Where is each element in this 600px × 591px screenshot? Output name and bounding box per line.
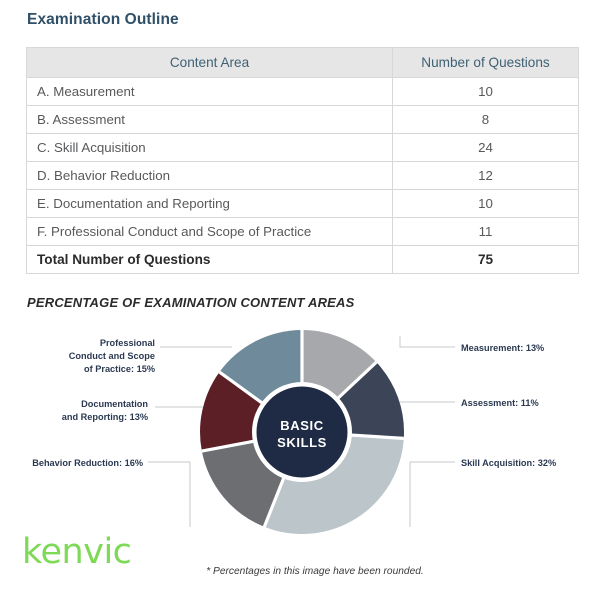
column-header-number-of-questions: Number of Questions: [393, 48, 579, 78]
cell-content-area: D. Behavior Reduction: [27, 162, 393, 190]
column-header-content-area: Content Area: [27, 48, 393, 78]
cell-question-count: 11: [393, 218, 579, 246]
table-row: A. Measurement 10: [27, 78, 579, 106]
donut-segments: BASIC SKILLS: [200, 330, 404, 534]
label-skill-acquisition: Skill Acquisition: 32%: [461, 458, 556, 468]
examination-outline-table: Content Area Number of Questions A. Meas…: [26, 47, 579, 274]
label-professional-conduct-line1: Professional: [100, 338, 155, 348]
table-row: B. Assessment 8: [27, 106, 579, 134]
cell-question-count: 12: [393, 162, 579, 190]
page-title: Examination Outline: [27, 11, 179, 29]
cell-question-count: 10: [393, 78, 579, 106]
cell-content-area: E. Documentation and Reporting: [27, 190, 393, 218]
table-row: E. Documentation and Reporting 10: [27, 190, 579, 218]
cell-content-area: F. Professional Conduct and Scope of Pra…: [27, 218, 393, 246]
table-row: F. Professional Conduct and Scope of Pra…: [27, 218, 579, 246]
cell-content-area: B. Assessment: [27, 106, 393, 134]
cell-question-count: 10: [393, 190, 579, 218]
label-documentation-line2: and Reporting: 13%: [62, 412, 148, 422]
hub-label-line1: BASIC: [280, 418, 323, 433]
table-row: D. Behavior Reduction 12: [27, 162, 579, 190]
label-assessment: Assessment: 11%: [461, 398, 539, 408]
chart-title: PERCENTAGE OF EXAMINATION CONTENT AREAS: [27, 295, 355, 310]
label-documentation-line1: Documentation: [81, 399, 148, 409]
label-professional-conduct-line3: of Practice: 15%: [84, 364, 155, 374]
cell-total-count: 75: [393, 246, 579, 274]
cell-question-count: 8: [393, 106, 579, 134]
label-professional-conduct-line2: Conduct and Scope: [69, 351, 155, 361]
cell-question-count: 24: [393, 134, 579, 162]
donut-chart: BASIC SKILLS Measurement: 13% Assessment…: [0, 322, 600, 547]
table-row: C. Skill Acquisition 24: [27, 134, 579, 162]
cell-content-area: C. Skill Acquisition: [27, 134, 393, 162]
hub-label-line2: SKILLS: [277, 435, 327, 450]
table-header-row: Content Area Number of Questions: [27, 48, 579, 78]
table-total-row: Total Number of Questions 75: [27, 246, 579, 274]
label-measurement: Measurement: 13%: [461, 343, 544, 353]
cell-total-label: Total Number of Questions: [27, 246, 393, 274]
chart-footnote: * Percentages in this image have been ro…: [0, 566, 600, 577]
kenvic-logo: kenvic: [22, 535, 131, 570]
cell-content-area: A. Measurement: [27, 78, 393, 106]
label-behavior-reduction: Behavior Reduction: 16%: [32, 458, 143, 468]
